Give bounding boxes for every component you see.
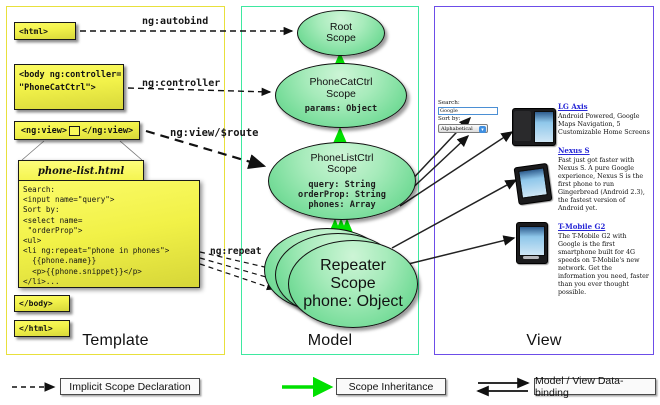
scope-root-line2: Scope [326, 33, 356, 45]
scope-phonecatctrl-line1: PhoneCatCtrl [309, 77, 372, 89]
list-item: T-Mobile G2 The T-Mobile G2 with Google … [558, 222, 650, 297]
diagram-canvas: Template Model View [0, 0, 660, 405]
phone-name-link[interactable]: Nexus S [558, 146, 650, 155]
scope-repeater-line1: Repeater [320, 257, 386, 275]
phone-thumbnail-tmobile-g2 [516, 222, 546, 262]
list-item: LG Axis Android Powered, Google Maps Nav… [558, 102, 650, 137]
section-model-label: Model [242, 332, 418, 350]
label-ng-controller: ng:controller [142, 78, 220, 89]
ngview-open-text: <ng:view> [21, 126, 67, 136]
phone-list: LG Axis Android Powered, Google Maps Nav… [558, 102, 650, 306]
legend-item-scope-inheritance: Scope Inheritance [336, 378, 446, 395]
phone-thumbnail-nexus-s [516, 165, 548, 201]
scope-phonelistctrl: PhoneListCtrl Scope query: String orderP… [268, 142, 416, 220]
legend-item-implicit-scope: Implicit Scope Declaration [60, 378, 200, 395]
scope-repeater-stack: Repeater Scope phone: Object [264, 228, 416, 328]
scope-phonecatctrl-props: params: Object [305, 104, 377, 114]
scope-root: Root Scope [297, 10, 385, 56]
legend: Implicit Scope Declaration Scope Inherit… [0, 366, 660, 405]
label-ng-repeat: ng:repeat [210, 246, 261, 257]
label-ng-view-route: ng:view/$route [170, 127, 259, 139]
ngview-element: <ng:view> </ng:view> [14, 121, 140, 140]
scope-phonelistctrl-props: query: String orderProp: String phones: … [298, 180, 386, 210]
scope-phonecatctrl-line2: Scope [326, 89, 356, 101]
chevron-down-icon: ▾ [479, 126, 486, 133]
body-close-tag: </body> [14, 295, 70, 312]
phone-list-filename: phone-list.html [18, 160, 144, 181]
phone-list-code: Search: <input name="query"> Sort by: <s… [18, 180, 200, 288]
scope-repeater-line2: Scope [330, 275, 375, 293]
view-search-form: Search: Google Sort by: Alphabetical ▾ [438, 100, 502, 133]
phone-snippet: The T-Mobile G2 with Google is the first… [558, 233, 650, 297]
phone-thumbnail-lg-axis [512, 108, 554, 144]
body-tag-text: <body ng:controller= "PhoneCatCtrl"> [19, 70, 121, 93]
phone-name-link[interactable]: LG Axis [558, 102, 650, 111]
scope-repeater: Repeater Scope phone: Object [288, 240, 418, 328]
phone-name-link[interactable]: T-Mobile G2 [558, 222, 650, 231]
scope-phonelistctrl-line2: Scope [327, 164, 357, 176]
ngview-close-text: </ng:view> [82, 126, 133, 136]
sort-label: Sort by: [438, 116, 502, 123]
list-item: Nexus S Fast just got faster with Nexus … [558, 146, 650, 213]
html-close-tag: </html> [14, 320, 70, 337]
ngview-placeholder-icon [69, 126, 80, 136]
label-ng-autobind: ng:autobind [142, 16, 208, 27]
html-open-tag: <html> [14, 22, 76, 40]
legend-item-data-binding: Model / View Data-binding [534, 378, 656, 395]
phone-snippet: Fast just got faster with Nexus S. A pur… [558, 157, 650, 213]
sort-select-value: Alphabetical [441, 126, 473, 132]
phone-snippet: Android Powered, Google Maps Navigation,… [558, 113, 650, 137]
scope-repeater-props: phone: Object [303, 293, 403, 311]
search-input[interactable]: Google [438, 107, 498, 115]
sort-select[interactable]: Alphabetical ▾ [438, 124, 488, 133]
phone-list-note: phone-list.html Search: <input name="que… [18, 160, 200, 288]
search-label: Search: [438, 100, 502, 107]
section-view-label: View [435, 332, 653, 350]
scope-phonecatctrl: PhoneCatCtrl Scope params: Object [275, 63, 407, 128]
body-open-tag: <body ng:controller= "PhoneCatCtrl"> [14, 64, 124, 110]
